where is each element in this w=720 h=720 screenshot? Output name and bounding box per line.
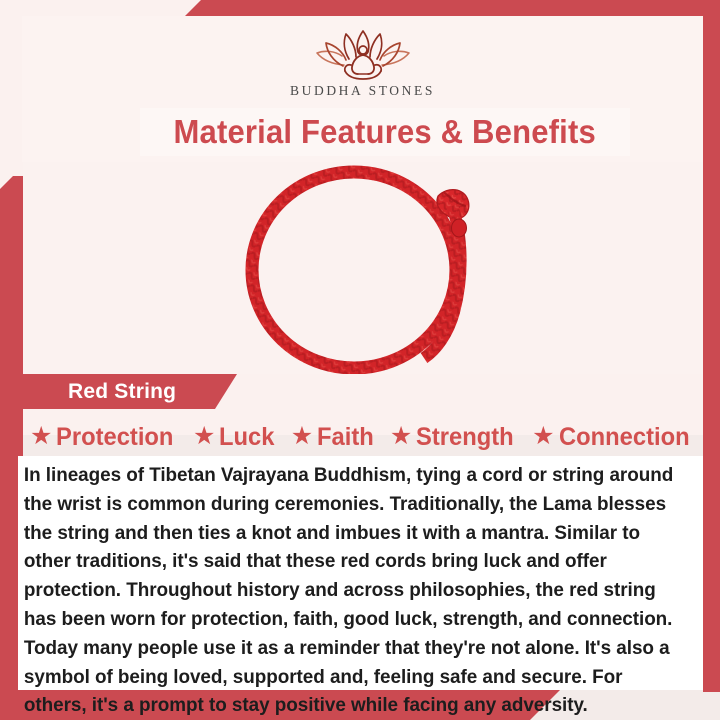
brand-name: BUDDHA STONES [290,83,435,99]
lotus-meditation-icon [309,28,417,80]
frame-bar-right [703,0,720,692]
red-string-bracelet-image [238,162,488,374]
star-icon: ★ [193,424,215,449]
benefit-label: Protection [56,423,173,452]
benefit-label: Luck [219,423,274,452]
infographic-canvas: BUDDHA STONES Material Features & Benefi… [0,0,720,720]
star-icon: ★ [30,424,52,449]
description-text: In lineages of Tibetan Vajrayana Buddhis… [18,456,693,720]
star-icon: ★ [390,424,412,449]
product-name-label: Red String [68,380,176,404]
title-banner: Material Features & Benefits [140,108,630,156]
benefit-label: Strength [416,423,514,452]
benefit-label: Connection [559,423,690,452]
product-name-tag: Red String [22,374,237,409]
star-icon: ★ [532,424,554,449]
benefit-item: ★ Luck [193,423,278,452]
header-card: BUDDHA STONES Material Features & Benefi… [22,16,703,162]
benefit-label: Faith [317,423,374,452]
benefits-row: ★ Protection ★ Luck ★ Faith ★ Strength ★… [23,418,703,456]
frame-bar-top [185,0,720,16]
brand-logo: BUDDHA STONES [22,28,703,106]
benefit-item: ★ Faith [291,423,377,452]
star-icon: ★ [291,424,313,449]
benefit-item: ★ Connection [532,423,696,452]
page-title: Material Features & Benefits [174,113,596,151]
product-image-area [23,162,703,374]
benefit-item: ★ Protection [30,423,180,452]
description-card: In lineages of Tibetan Vajrayana Buddhis… [18,456,703,690]
benefit-item: ★ Strength [390,423,519,452]
